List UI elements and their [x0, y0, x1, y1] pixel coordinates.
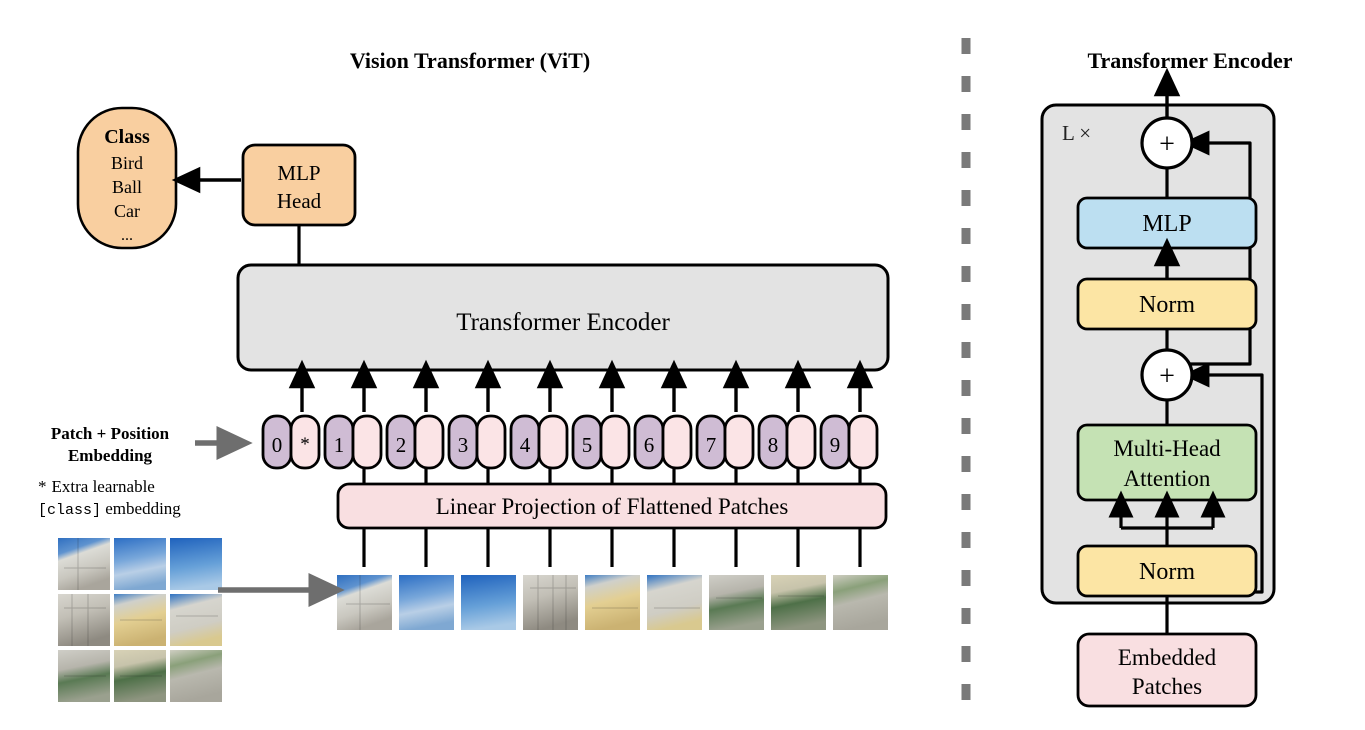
- embedded-patches-line1: Embedded: [1118, 645, 1217, 670]
- patch-position-label-line2: Embedding: [68, 446, 153, 465]
- token-4-index: 4: [520, 433, 531, 457]
- token-7-patch-pill: [725, 416, 753, 468]
- token-9-patch-pill: [849, 416, 877, 468]
- source-image-grid: [58, 538, 222, 702]
- mlp-head-line2: Head: [277, 189, 322, 213]
- token-6-index: 6: [644, 433, 655, 457]
- patch-image-2: [399, 575, 454, 630]
- projection-to-patch-connectors: [364, 528, 860, 567]
- source-tile-r3c3: [170, 650, 222, 702]
- token-6-patch-pill: [663, 416, 691, 468]
- token-row: 0 * 1 2 3 4 5: [263, 416, 877, 468]
- encoder-attention-line1: Multi-Head: [1113, 436, 1221, 461]
- token-9-index: 9: [830, 433, 841, 457]
- class-item-ball: Ball: [112, 177, 142, 197]
- token-1-patch-pill: [353, 416, 381, 468]
- source-tile-r1c2: [114, 538, 166, 590]
- token-8[interactable]: 8: [759, 416, 815, 468]
- token-1[interactable]: 1: [325, 416, 381, 468]
- token-3-index: 3: [458, 433, 469, 457]
- token-8-index: 8: [768, 433, 779, 457]
- token-to-encoder-arrows: [302, 374, 860, 412]
- patch-image-3: [461, 575, 516, 630]
- class-item-car: Car: [114, 201, 140, 221]
- token-5-index: 5: [582, 433, 593, 457]
- vit-figure: Vision Transformer (ViT) Transformer Enc…: [0, 0, 1365, 730]
- token-0[interactable]: 0 *: [263, 416, 319, 468]
- token-3[interactable]: 3: [449, 416, 505, 468]
- encoder-mlp-label: MLP: [1142, 211, 1191, 237]
- add-node-bottom-symbol: +: [1159, 361, 1175, 392]
- embedded-patches-line2: Patches: [1132, 674, 1202, 699]
- token-3-patch-pill: [477, 416, 505, 468]
- token-6[interactable]: 6: [635, 416, 691, 468]
- token-5-patch-pill: [601, 416, 629, 468]
- token-7-index: 7: [706, 433, 717, 457]
- token-2[interactable]: 2: [387, 416, 443, 468]
- transformer-encoder-label: Transformer Encoder: [456, 309, 670, 336]
- token-9[interactable]: 9: [821, 416, 877, 468]
- add-node-top-symbol: +: [1159, 129, 1175, 160]
- left-panel-title: Vision Transformer (ViT): [350, 48, 590, 73]
- mlp-head-box: [243, 145, 355, 225]
- source-tile-r2c3: [170, 594, 222, 646]
- token-1-index: 1: [334, 433, 345, 457]
- token-5[interactable]: 5: [573, 416, 629, 468]
- footnote-line1: *Extra learnable: [38, 477, 155, 496]
- right-panel-title: Transformer Encoder: [1087, 48, 1292, 73]
- patch-image-7: [709, 575, 764, 630]
- patch-image-1: [337, 575, 392, 630]
- token-to-projection-connectors: [364, 468, 860, 484]
- token-4-patch-pill: [539, 416, 567, 468]
- flattened-patch-strip: [337, 575, 888, 630]
- encoder-repeat-label: L ×: [1062, 121, 1091, 145]
- source-tile-r2c1: [58, 594, 110, 646]
- class-ellipsis: ...: [121, 227, 133, 244]
- patch-image-9: [833, 575, 888, 630]
- token-2-index: 2: [396, 433, 407, 457]
- token-4[interactable]: 4: [511, 416, 567, 468]
- encoder-norm-top-label: Norm: [1139, 292, 1195, 318]
- patch-image-6: [647, 575, 702, 630]
- linear-projection-label: Linear Projection of Flattened Patches: [436, 494, 789, 519]
- encoder-norm-bottom-label: Norm: [1139, 559, 1195, 585]
- class-item-bird: Bird: [111, 153, 143, 173]
- token-8-patch-pill: [787, 416, 815, 468]
- figure-canvas: Vision Transformer (ViT) Transformer Enc…: [0, 0, 1365, 730]
- footnote-line2: [class] embedding: [38, 499, 181, 519]
- patch-image-5: [585, 575, 640, 630]
- source-tile-r1c1: [58, 538, 110, 590]
- source-tile-r1c3: [170, 538, 222, 590]
- encoder-attention-line2: Attention: [1124, 466, 1211, 491]
- token-0-star: *: [300, 434, 310, 455]
- token-7[interactable]: 7: [697, 416, 753, 468]
- patch-image-8: [771, 575, 826, 630]
- mlp-head-line1: MLP: [277, 161, 320, 185]
- patch-image-4: [523, 575, 578, 630]
- class-heading: Class: [104, 126, 150, 148]
- token-0-index: 0: [272, 433, 283, 457]
- patch-position-label-line1: Patch + Position: [51, 424, 170, 443]
- token-2-patch-pill: [415, 416, 443, 468]
